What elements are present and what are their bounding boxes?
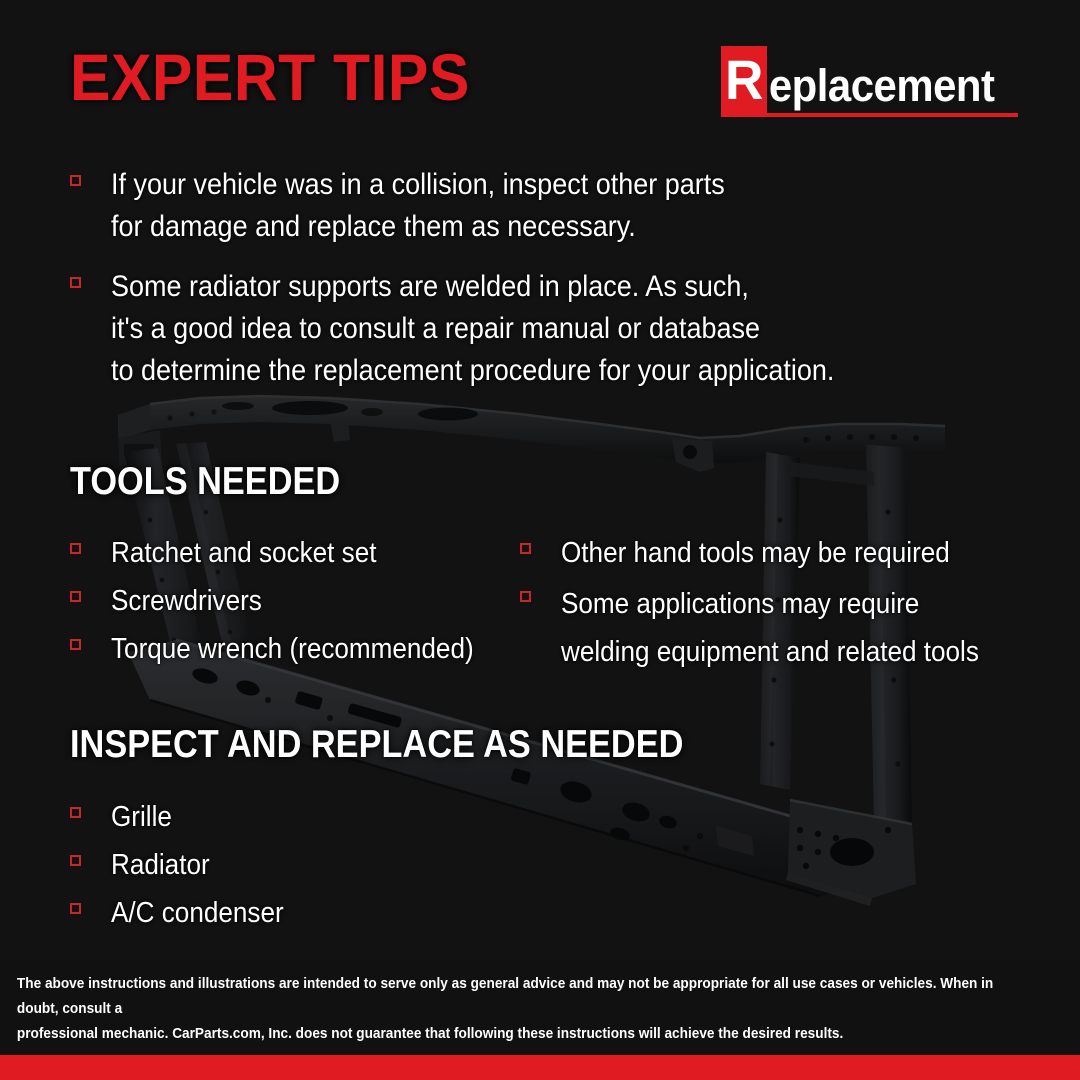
disclaimer-text: The above instructions and illustrations…: [0, 972, 1015, 1055]
tool-item-text: Ratchet and socket set: [111, 532, 377, 574]
inspect-replace-heading: INSPECT AND REPLACE AS NEEDED: [70, 725, 683, 764]
list-item: If your vehicle was in a collision, insp…: [70, 164, 970, 248]
list-item: A/C condenser: [70, 892, 510, 934]
page-title: EXPERT TIPS: [70, 44, 470, 110]
list-item: Other hand tools may be required: [520, 532, 1020, 574]
logo-badge: R: [721, 46, 767, 114]
logo-wordmark: eplacement: [767, 63, 995, 114]
square-bullet-icon: [70, 855, 81, 866]
list-item: Some radiator supports are welded in pla…: [70, 266, 1020, 392]
tool-item-text: Screwdrivers: [111, 580, 262, 622]
square-bullet-icon: [70, 903, 81, 914]
inspect-item-text: Radiator: [111, 844, 210, 886]
tip-text: Some radiator supports are welded in pla…: [111, 266, 834, 392]
tool-item-text: Other hand tools may be required: [561, 532, 950, 574]
footer: The above instructions and illustrations…: [0, 960, 1080, 1080]
list-item: Some applications may require welding eq…: [520, 580, 1040, 676]
list-item: Radiator: [70, 844, 510, 886]
tip-text: If your vehicle was in a collision, insp…: [111, 164, 725, 248]
square-bullet-icon: [70, 639, 81, 650]
square-bullet-icon: [520, 591, 531, 602]
square-bullet-icon: [70, 807, 81, 818]
logo-badge-letter: R: [725, 52, 763, 108]
square-bullet-icon: [70, 543, 81, 554]
tools-needed-heading: TOOLS NEEDED: [70, 462, 340, 501]
list-item: Torque wrench (recommended): [70, 628, 530, 670]
list-item: Screwdrivers: [70, 580, 510, 622]
list-item: Ratchet and socket set: [70, 532, 510, 574]
list-item: Grille: [70, 796, 510, 838]
square-bullet-icon: [70, 277, 81, 288]
replacement-logo: R eplacement: [721, 46, 1012, 114]
square-bullet-icon: [520, 543, 531, 554]
expert-tips-infographic: EXPERT TIPS R eplacement If your vehicle…: [0, 0, 1080, 1080]
square-bullet-icon: [70, 591, 81, 602]
inspect-item-text: Grille: [111, 796, 172, 838]
logo-underline: [721, 113, 1018, 117]
square-bullet-icon: [70, 175, 81, 186]
tool-item-text: Some applications may require welding eq…: [561, 580, 979, 676]
inspect-item-text: A/C condenser: [111, 892, 284, 934]
tool-item-text: Torque wrench (recommended): [111, 628, 474, 670]
footer-accent-bar: [0, 1055, 1080, 1080]
